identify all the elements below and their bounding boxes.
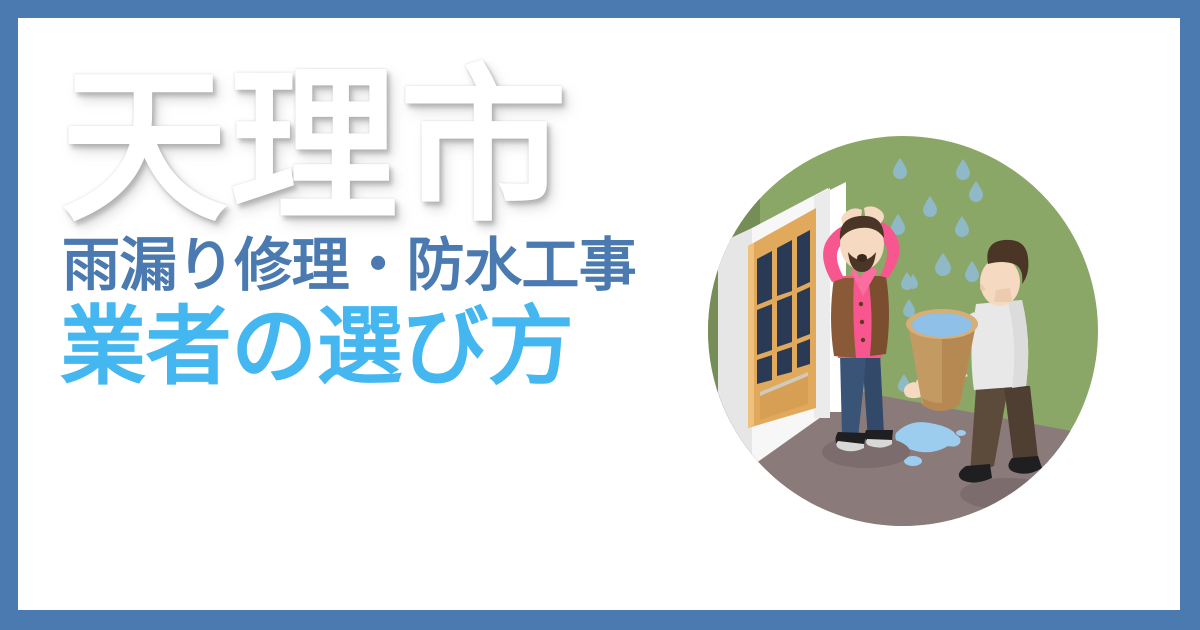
banner-text-block: 天理市 雨漏り修理・防水工事 業者の選び方	[48, 63, 708, 392]
page-subtitle: 雨漏り修理・防水工事	[62, 235, 708, 296]
roof-leak-illustration	[708, 136, 1098, 526]
distressed-man-mouth	[857, 254, 867, 262]
banner-canvas: 天理市 雨漏り修理・防水工事 業者の選び方	[0, 0, 1200, 630]
bucket-water	[912, 313, 972, 337]
distressed-man-shadow	[822, 436, 910, 468]
door-jamb-inner	[814, 188, 830, 418]
bucket-man-shadow	[960, 478, 1056, 510]
illustration-clip-group	[708, 136, 1098, 526]
door-casing-left	[718, 228, 752, 466]
puddle-droplet	[956, 430, 966, 436]
page-title-accent: 業者の選び方	[60, 302, 708, 392]
door-leaf-edge	[748, 243, 754, 428]
bucket-man-neck	[994, 288, 1012, 302]
banner-inner-panel: 天理市 雨漏り修理・防水工事 業者の選び方	[18, 18, 1180, 610]
roof-leak-illustration-svg	[708, 136, 1098, 526]
page-title: 天理市	[60, 63, 708, 231]
distressed-man-vest-left	[831, 278, 856, 358]
